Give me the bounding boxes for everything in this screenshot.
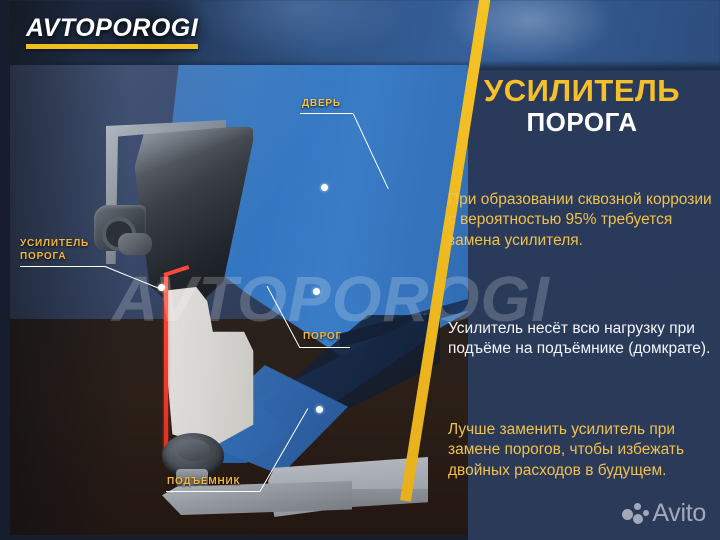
leader-line-rocker-horizontal [300,347,350,348]
label-door: ДВЕРЬ [302,98,341,111]
leader-dot-jack [316,406,323,413]
leader-dot-reinforcement [158,284,165,291]
brand-logo[interactable]: AVTOPOROGI [26,16,198,49]
avito-watermark: Avito [622,499,706,528]
avito-wordmark: Avito [652,499,706,528]
info-paragraph-advice: Лучше заменить усилитель при замене поро… [448,420,716,482]
label-rocker: ПОРОГ [303,331,342,344]
brand-logo-underline [26,44,198,49]
leader-dot-rocker [313,288,320,295]
jack-pad-cup-inner [176,439,210,461]
info-paragraph-load: Усилитель несёт всю нагрузку при подъёме… [448,319,716,360]
leader-line-door-horizontal [300,113,353,114]
leader-line-jack-horizontal [166,491,260,492]
label-jack: ПОДЪЁМНИК [167,476,240,489]
frame-left-edge [0,0,10,540]
frame-bottom-edge [0,535,468,540]
corrosion-indicator-line [164,275,168,457]
label-sill-reinforcement: УСИЛИТЕЛЬ ПОРОГА [20,238,89,263]
info-panel: УСИЛИТЕЛЬ ПОРОГА При образовании сквозно… [444,0,720,540]
poster-canvas: ДВЕРЬ УСИЛИТЕЛЬ ПОРОГА ПОРОГ ПОДЪЁМНИК A… [0,0,720,540]
door-hinge-bracket [118,233,152,255]
avito-logo-icon [622,503,648,525]
page-title: УСИЛИТЕЛЬ ПОРОГА [444,74,720,139]
page-title-line2: ПОРОГА [444,107,720,138]
page-title-line1: УСИЛИТЕЛЬ [444,74,720,107]
illustration-panel [10,65,468,535]
leader-line-reinforcement-horizontal [20,266,105,267]
info-paragraph-corrosion: При образовании сквозной коррозии с веро… [448,190,716,252]
brand-logo-text: AVTOPOROGI [26,16,198,41]
leader-dot-door [321,184,328,191]
